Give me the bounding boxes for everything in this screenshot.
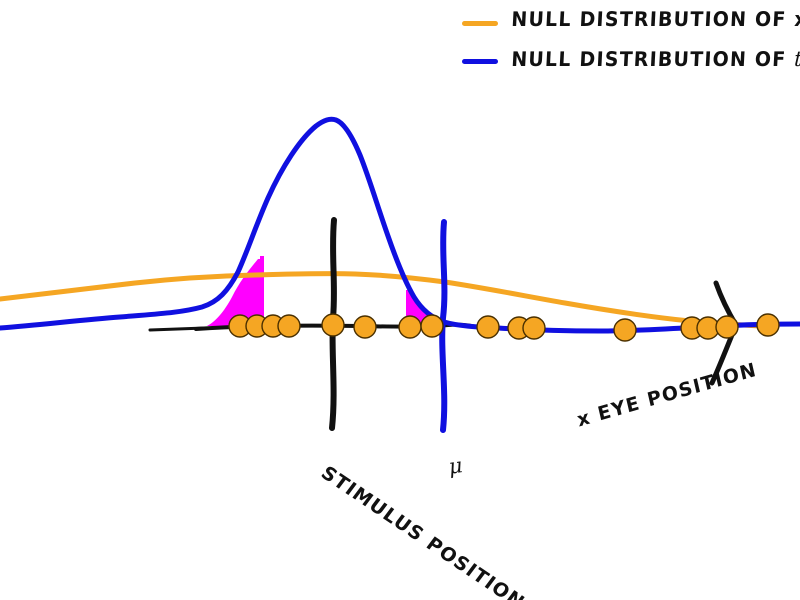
sample-dot: [614, 319, 636, 341]
diagram-canvas: NULL DISTRIBUTION OF x NULL DISTRIBUTION…: [0, 0, 800, 600]
legend-item-null-distribution-of-t[interactable]: NULL DISTRIBUTION OF t: [462, 46, 796, 84]
sample-dot: [278, 315, 300, 337]
sample-dot: [421, 315, 443, 337]
sample-dot: [399, 316, 421, 338]
sample-dot: [354, 316, 376, 338]
legend-swatch-blue: [462, 59, 498, 64]
legend-label-t: NULL DISTRIBUTION OF t: [511, 46, 800, 71]
legend: NULL DISTRIBUTION OF x NULL DISTRIBUTION…: [462, 8, 796, 84]
sample-dot: [322, 314, 344, 336]
legend-label-x: NULL DISTRIBUTION OF x: [511, 8, 800, 31]
curve-null-distribution-t: [0, 119, 800, 331]
sample-dot: [716, 316, 738, 338]
legend-swatch-orange: [462, 21, 498, 26]
legend-item-null-distribution-of-x[interactable]: NULL DISTRIBUTION OF x: [462, 8, 796, 46]
sample-dot: [523, 317, 545, 339]
sample-dot: [757, 314, 779, 336]
axis-baseline-left-stub: [150, 328, 205, 330]
sample-dot: [477, 316, 499, 338]
